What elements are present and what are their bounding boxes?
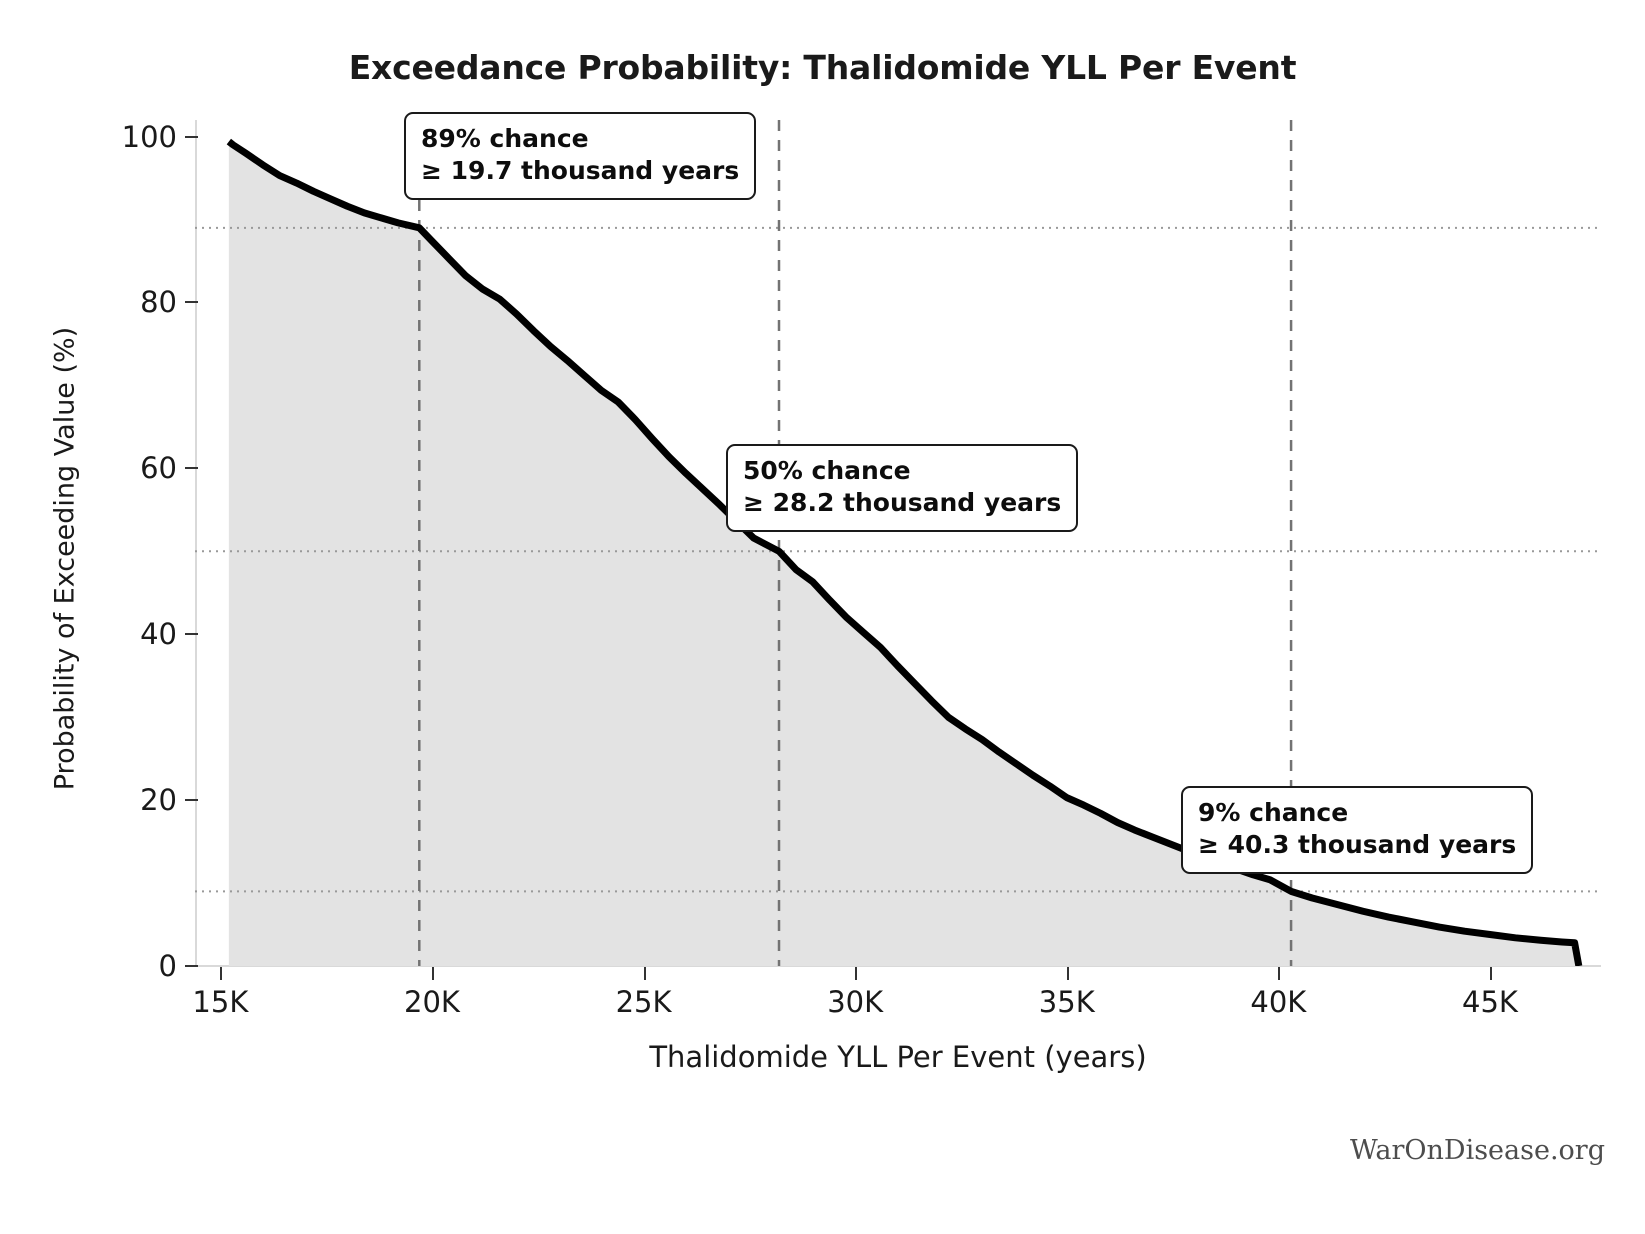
annotation-89-line2: ≥ 19.7 thousand years — [421, 155, 739, 187]
y-axis-ticks: 020406080100 — [95, 0, 177, 1234]
x-tick-label: 40K — [1213, 985, 1343, 1019]
chart-page: Exceedance Probability: Thalidomide YLL … — [0, 0, 1645, 1234]
x-axis-title: Thalidomide YLL Per Event (years) — [195, 1040, 1601, 1074]
x-tick-label: 15K — [155, 985, 285, 1019]
annotation-89-line1: 89% chance — [421, 123, 739, 155]
x-tick-label: 20K — [367, 985, 497, 1019]
annotation-9-line1: 9% chance — [1198, 797, 1516, 829]
x-tick-mark — [1067, 967, 1069, 980]
x-tick-label: 30K — [790, 985, 920, 1019]
y-tick-mark — [185, 799, 198, 801]
x-tick-label: 35K — [1002, 985, 1132, 1019]
y-tick-label: 0 — [97, 949, 177, 983]
y-tick-mark — [185, 136, 198, 138]
annotation-9-line2: ≥ 40.3 thousand years — [1198, 829, 1516, 861]
y-tick-label: 40 — [97, 617, 177, 651]
x-tick-label: 25K — [579, 985, 709, 1019]
y-tick-mark — [185, 965, 198, 967]
annotation-89-percent: 89% chance ≥ 19.7 thousand years — [404, 112, 756, 200]
y-tick-mark — [185, 467, 198, 469]
x-tick-mark — [1490, 967, 1492, 980]
y-tick-label: 100 — [97, 120, 177, 154]
annotation-50-percent: 50% chance ≥ 28.2 thousand years — [726, 444, 1078, 532]
annotation-9-percent: 9% chance ≥ 40.3 thousand years — [1181, 786, 1533, 874]
annotation-50-line1: 50% chance — [743, 455, 1061, 487]
y-axis-title: Probability of Exceeding Value (%) — [50, 279, 81, 839]
x-tick-mark — [432, 967, 434, 980]
x-tick-label: 45K — [1425, 985, 1555, 1019]
y-tick-mark — [185, 301, 198, 303]
y-tick-label: 20 — [97, 783, 177, 817]
y-tick-label: 80 — [97, 285, 177, 319]
x-tick-mark — [220, 967, 222, 980]
x-tick-mark — [1278, 967, 1280, 980]
x-tick-mark — [644, 967, 646, 980]
footer-credit: WarOnDisease.org — [1350, 1135, 1605, 1166]
page-title: Exceedance Probability: Thalidomide YLL … — [0, 48, 1645, 87]
x-tick-mark — [855, 967, 857, 980]
annotation-50-line2: ≥ 28.2 thousand years — [743, 487, 1061, 519]
y-tick-label: 60 — [97, 451, 177, 485]
y-tick-mark — [185, 633, 198, 635]
